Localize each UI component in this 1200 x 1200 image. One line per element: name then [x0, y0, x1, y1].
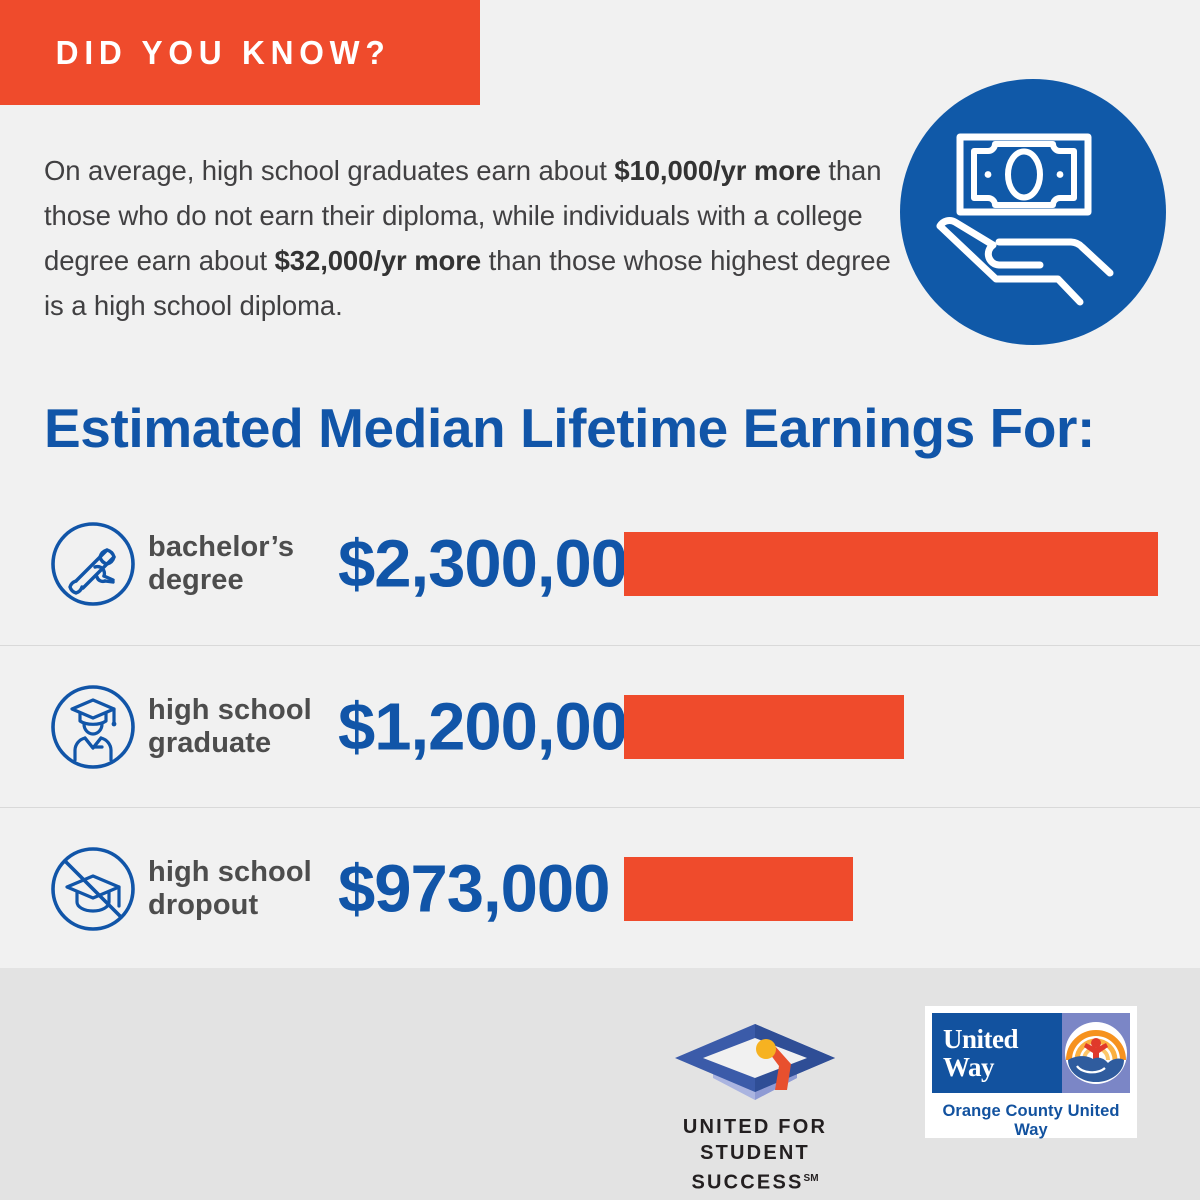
row-label: high school graduate — [148, 694, 338, 760]
bar — [624, 532, 1158, 596]
united-for-student-success-logo: UNITED FOR STUDENT SUCCESSSM — [648, 1016, 862, 1196]
row-label: bachelor’s degree — [148, 531, 338, 597]
table-row: bachelor’s degree $2,300,000 — [0, 483, 1200, 645]
united-way-word1: United — [943, 1025, 1062, 1053]
row-label-line2: graduate — [148, 727, 271, 759]
table-row: high school graduate $1,200,000 — [0, 645, 1200, 807]
row-value: $2,300,000 — [338, 526, 663, 603]
usf-line1: UNITED FOR — [683, 1116, 827, 1138]
intro-paragraph: On average, high school graduates earn a… — [44, 148, 892, 328]
row-value: $1,200,000 — [338, 688, 663, 765]
row-label-line2: degree — [148, 564, 244, 596]
graduation-cap-logo-icon — [667, 1016, 843, 1104]
usf-logo-text: UNITED FOR STUDENT SUCCESSSM — [648, 1114, 862, 1196]
bar — [624, 857, 853, 921]
row-value: $973,000 — [338, 850, 609, 927]
united-way-logo-top: United Way — [932, 1013, 1130, 1093]
intro-highlight: $32,000/yr more — [275, 245, 481, 276]
intro-highlight: $10,000/yr more — [614, 155, 820, 186]
page-title: Estimated Median Lifetime Earnings For: — [44, 396, 1095, 460]
footer: UNITED FOR STUDENT SUCCESSSM United Way — [0, 968, 1200, 1200]
united-way-logo: United Way — [925, 1006, 1137, 1138]
no-graduation-cap-icon — [50, 846, 136, 932]
diploma-scroll-icon — [50, 521, 136, 607]
infographic-page: DID YOU KNOW? On average, high school gr… — [0, 0, 1200, 1200]
table-row: high school dropout $973,000 — [0, 807, 1200, 969]
united-way-word2: Way — [943, 1053, 1062, 1081]
row-label-line1: bachelor’s — [148, 531, 294, 563]
bar — [624, 695, 904, 759]
united-way-emblem — [1062, 1013, 1130, 1093]
intro-text: On average, high school graduates earn a… — [44, 155, 614, 186]
did-you-know-banner: DID YOU KNOW? — [0, 0, 480, 105]
earnings-rows: bachelor’s degree $2,300,000 — [0, 483, 1200, 969]
row-label-line1: high school — [148, 856, 312, 888]
banner-label: DID YOU KNOW? — [0, 34, 390, 72]
row-label: high school dropout — [148, 856, 338, 922]
row-label-line2: dropout — [148, 889, 258, 921]
united-way-tagline: Orange County United Way — [932, 1093, 1130, 1140]
united-way-hand-rainbow-icon — [1063, 1020, 1129, 1086]
united-way-wordmark: United Way — [932, 1013, 1062, 1093]
graduate-person-icon — [50, 684, 136, 770]
usf-line2: STUDENT SUCCESS — [691, 1142, 809, 1194]
money-in-hand-icon — [900, 79, 1166, 345]
usf-service-mark: SM — [804, 1173, 819, 1184]
row-label-line1: high school — [148, 694, 312, 726]
